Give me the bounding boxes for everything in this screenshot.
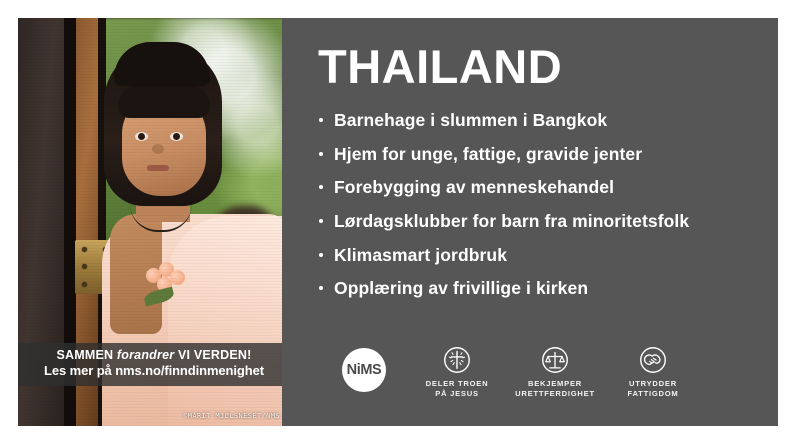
value-label-faith-line2: PÅ JESUS: [435, 389, 479, 398]
caption-line-2: Les mer på nms.no/finndinmenighet: [18, 363, 290, 379]
value-item-poverty: UTRYDDER FATTIGDOM: [598, 346, 708, 400]
photo-girl-nose: [152, 144, 164, 154]
caption-line-1-pre: SAMMEN: [56, 348, 116, 362]
value-label-poverty-line1: UTRYDDER: [629, 379, 677, 388]
value-label-faith-line1: DELER TROEN: [426, 379, 489, 388]
caption-line-1-emphasis: forandrer: [117, 348, 174, 362]
handshake-icon: [639, 346, 667, 374]
photo-girl-dress-highlight: [168, 216, 290, 426]
list-item: Lørdagsklubber for barn fra minoritetsfo…: [316, 211, 768, 231]
value-label-justice-line2: URETTFERDIGHET: [515, 389, 595, 398]
photo-credit: ©MARIT MJØLSNESET/NMS: [183, 412, 280, 420]
scales-icon: [541, 346, 569, 374]
content-panel: THAILAND Barnehage i slummen i Bangkok H…: [282, 18, 778, 426]
list-item: Klimasmart jordbruk: [316, 245, 768, 265]
photo-girl-eye-left: [135, 132, 148, 141]
photo-panel: SAMMEN forandrer VI VERDEN! Les mer på n…: [18, 18, 290, 426]
footer-logo-row: NiMS DELER TROEN PÅ JESUS: [318, 346, 762, 408]
photo-caption-band: SAMMEN forandrer VI VERDEN! Les mer på n…: [18, 343, 290, 386]
caption-line-1-post: VI VERDEN!: [174, 348, 251, 362]
photo-girl-eye-right: [170, 132, 183, 141]
nms-logo: NiMS: [342, 348, 386, 392]
value-label-faith: DELER TROEN PÅ JESUS: [402, 379, 512, 400]
cross-rays-icon: [443, 346, 471, 374]
photo-girl-fringe: [118, 84, 210, 118]
list-item: Hjem for unge, fattige, gravide jenter: [316, 144, 768, 164]
photo-girl-mouth: [147, 165, 169, 171]
photo-girl-hair-top: [114, 42, 210, 86]
bullet-list: Barnehage i slummen i Bangkok Hjem for u…: [316, 110, 768, 312]
value-label-justice: BEKJEMPER URETTFERDIGHET: [500, 379, 610, 400]
value-label-poverty: UTRYDDER FATTIGDOM: [598, 379, 708, 400]
caption-line-1: SAMMEN forandrer VI VERDEN!: [18, 348, 290, 363]
value-item-faith: DELER TROEN PÅ JESUS: [402, 346, 512, 400]
value-label-justice-line1: BEKJEMPER: [528, 379, 582, 388]
value-item-justice: BEKJEMPER URETTFERDIGHET: [500, 346, 610, 400]
list-item: Forebygging av menneskehandel: [316, 177, 768, 197]
list-item: Barnehage i slummen i Bangkok: [316, 110, 768, 130]
slide-root: SAMMEN forandrer VI VERDEN! Les mer på n…: [0, 0, 800, 448]
page-title: THAILAND: [318, 43, 562, 90]
value-label-poverty-line2: FATTIGDOM: [628, 389, 679, 398]
nms-logo-text: NiMS: [347, 362, 382, 378]
list-item: Opplæring av frivillige i kirken: [316, 278, 768, 298]
